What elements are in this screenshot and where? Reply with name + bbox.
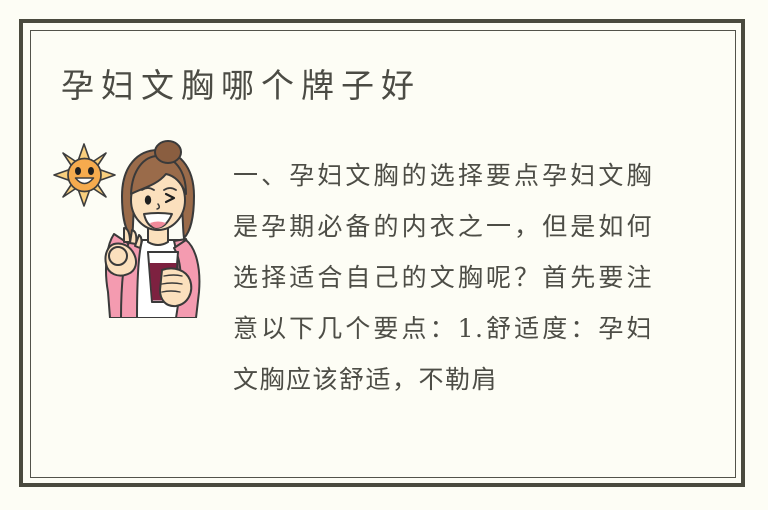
holding-hand [160, 268, 191, 306]
page-title: 孕妇文胸哪个牌子好 [61, 64, 421, 108]
document-page: 孕妇文胸哪个牌子好 [0, 0, 768, 510]
article-body: 一、孕妇文胸的选择要点孕妇文胸是孕期必备的内衣之一，但是如何选择适合自己的文胸呢… [233, 150, 653, 405]
article-content: 一、孕妇文胸的选择要点孕妇文胸是孕期必备的内衣之一，但是如何选择适合自己的文胸呢… [48, 140, 708, 390]
illustration-pregnant-woman-icon [48, 140, 223, 318]
woman-figure [105, 141, 199, 318]
sun-icon [54, 144, 115, 206]
